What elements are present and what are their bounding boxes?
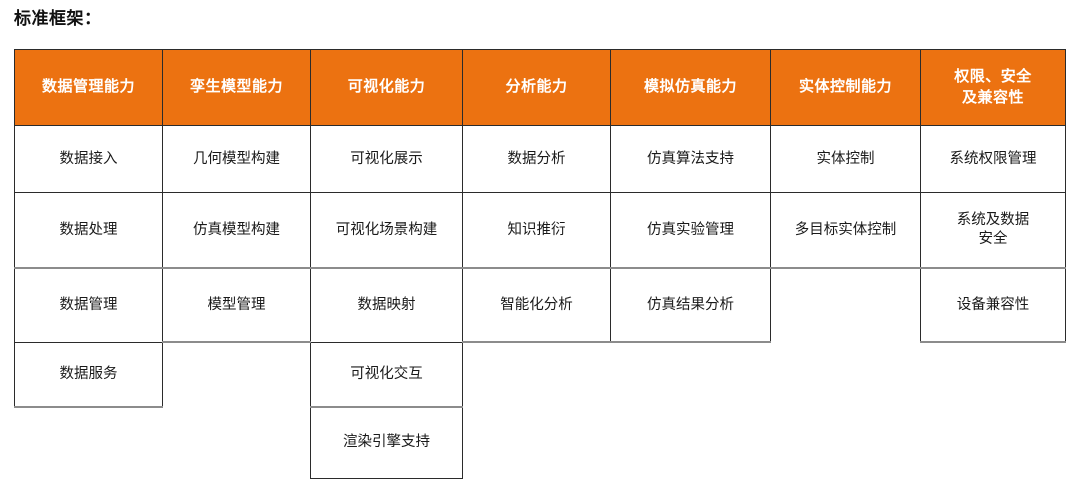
cell-r4c3: 可视化交互 xyxy=(311,342,463,407)
column-header-data-management: 数据管理能力 xyxy=(15,50,163,126)
cell-r1c3: 可视化展示 xyxy=(311,126,463,193)
page-title: 标准框架： xyxy=(14,4,102,29)
cell-r3c2: 模型管理 xyxy=(163,268,311,342)
capability-table: 数据管理能力 孪生模型能力 可视化能力 分析能力 模拟仿真能力 实体控制能力 权… xyxy=(14,49,1066,479)
cell-r5c4-empty xyxy=(463,407,611,479)
cell-r3c6-empty xyxy=(771,268,921,342)
cell-r1c1: 数据接入 xyxy=(15,126,163,193)
column-header-analysis: 分析能力 xyxy=(463,50,611,126)
cell-r1c4: 数据分析 xyxy=(463,126,611,193)
cell-r2c7: 系统及数据 安全 xyxy=(921,193,1066,269)
column-header-visualization: 可视化能力 xyxy=(311,50,463,126)
cell-r5c6-empty xyxy=(771,407,921,479)
cell-r2c4: 知识推衍 xyxy=(463,193,611,269)
cell-r2c3: 可视化场景构建 xyxy=(311,193,463,269)
table-row: 数据处理 仿真模型构建 可视化场景构建 知识推衍 仿真实验管理 多目标实体控制 … xyxy=(15,193,1066,269)
capability-matrix: 数据管理能力 孪生模型能力 可视化能力 分析能力 模拟仿真能力 实体控制能力 权… xyxy=(14,49,1065,479)
cell-r4c1: 数据服务 xyxy=(15,342,163,407)
cell-r4c7-empty xyxy=(921,342,1066,407)
table-row: 数据服务 可视化交互 xyxy=(15,342,1066,407)
document-page: 标准框架： 数据管理能力 孪生模型能力 可视化能力 分析能力 模拟仿真能力 实体… xyxy=(0,0,1080,454)
cell-r1c7: 系统权限管理 xyxy=(921,126,1066,193)
cell-r1c5: 仿真算法支持 xyxy=(611,126,771,193)
column-header-simulation: 模拟仿真能力 xyxy=(611,50,771,126)
cell-r3c3: 数据映射 xyxy=(311,268,463,342)
cell-r3c7: 设备兼容性 xyxy=(921,268,1066,342)
table-row: 数据接入 几何模型构建 可视化展示 数据分析 仿真算法支持 实体控制 系统权限管… xyxy=(15,126,1066,193)
cell-r1c2: 几何模型构建 xyxy=(163,126,311,193)
cell-r3c5: 仿真结果分析 xyxy=(611,268,771,342)
table-row: 数据管理 模型管理 数据映射 智能化分析 仿真结果分析 设备兼容性 xyxy=(15,268,1066,342)
cell-r4c2-empty xyxy=(163,342,311,407)
cell-r2c6: 多目标实体控制 xyxy=(771,193,921,269)
cell-r2c1: 数据处理 xyxy=(15,193,163,269)
cell-r3c4: 智能化分析 xyxy=(463,268,611,342)
cell-r5c3: 渲染引擎支持 xyxy=(311,407,463,479)
column-header-security-compatibility: 权限、安全 及兼容性 xyxy=(921,50,1066,126)
cell-r5c2-empty xyxy=(163,407,311,479)
cell-r2c2: 仿真模型构建 xyxy=(163,193,311,269)
cell-r4c4-empty xyxy=(463,342,611,407)
cell-r5c7-empty xyxy=(921,407,1066,479)
table-header-row: 数据管理能力 孪生模型能力 可视化能力 分析能力 模拟仿真能力 实体控制能力 权… xyxy=(15,50,1066,126)
cell-r1c6: 实体控制 xyxy=(771,126,921,193)
column-header-entity-control: 实体控制能力 xyxy=(771,50,921,126)
cell-r4c6-empty xyxy=(771,342,921,407)
cell-r3c1: 数据管理 xyxy=(15,268,163,342)
table-row: 渲染引擎支持 xyxy=(15,407,1066,479)
column-header-twin-model: 孪生模型能力 xyxy=(163,50,311,126)
cell-r4c5-empty xyxy=(611,342,771,407)
cell-r2c5: 仿真实验管理 xyxy=(611,193,771,269)
cell-r5c1-empty xyxy=(15,407,163,479)
cell-r5c5-empty xyxy=(611,407,771,479)
